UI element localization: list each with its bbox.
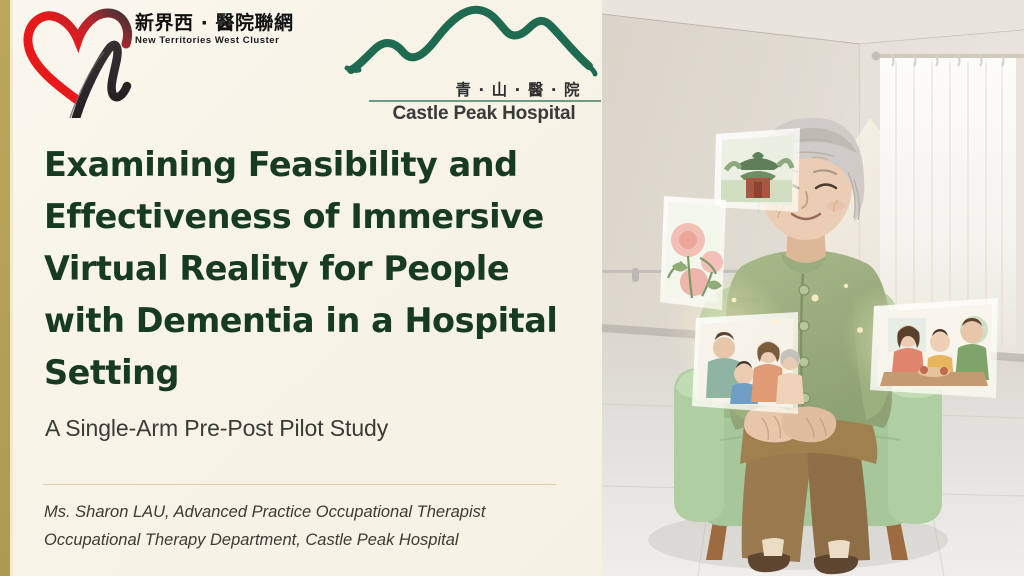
ntwc-chinese-name: 新界西 · 醫院聯網 [135, 12, 313, 34]
ntwc-logo-text: 新界西 · 醫院聯網 New Territories West Cluster [135, 12, 313, 46]
title-line: Effectiveness of Immersive [44, 191, 589, 243]
cph-chinese-name: 青 · 山 · 醫 · 院 [435, 78, 601, 100]
floating-photo-family-table [870, 298, 998, 398]
author-name-line: Ms. Sharon LAU, Advanced Practice Occupa… [44, 498, 589, 526]
elderly-woman-vr-reminiscence-illustration [602, 0, 1024, 576]
page-title: Examining Feasibility and Effectiveness … [44, 139, 589, 399]
section-divider [43, 484, 556, 485]
castle-peak-hospital-logo: 青 · 山 · 醫 · 院 Castle Peak Hospital [343, 4, 601, 126]
floating-photo-family-group [692, 312, 804, 414]
title-line: with Dementia in a Hospital [44, 295, 589, 347]
left-gold-accent-bar [0, 0, 10, 576]
author-affiliation-line: Occupational Therapy Department, Castle … [44, 526, 589, 554]
logo-row: 新界西 · 醫院聯網 New Territories West Cluster … [13, 0, 602, 130]
title-content-panel: 新界西 · 醫院聯網 New Territories West Cluster … [13, 0, 602, 576]
author-block: Ms. Sharon LAU, Advanced Practice Occupa… [44, 498, 589, 554]
new-territories-west-cluster-logo: 新界西 · 醫院聯網 New Territories West Cluster [18, 4, 308, 124]
presentation-title-slide: 新界西 · 醫院聯網 New Territories West Cluster … [0, 0, 1024, 576]
mountain-range-icon [343, 4, 601, 82]
title-line: Setting [44, 347, 589, 399]
floating-photo-pavilion [714, 128, 800, 212]
floating-photo-flowers [660, 196, 726, 310]
title-line: Examining Feasibility and [44, 139, 589, 191]
cph-divider-rule [369, 100, 601, 102]
page-subtitle: A Single-Arm Pre-Post Pilot Study [45, 415, 585, 442]
cph-english-name: Castle Peak Hospital [367, 103, 601, 125]
heart-swoosh-icon [18, 6, 138, 118]
title-line: Virtual Reality for People [44, 243, 589, 295]
ntwc-english-name: New Territories West Cluster [135, 35, 313, 46]
